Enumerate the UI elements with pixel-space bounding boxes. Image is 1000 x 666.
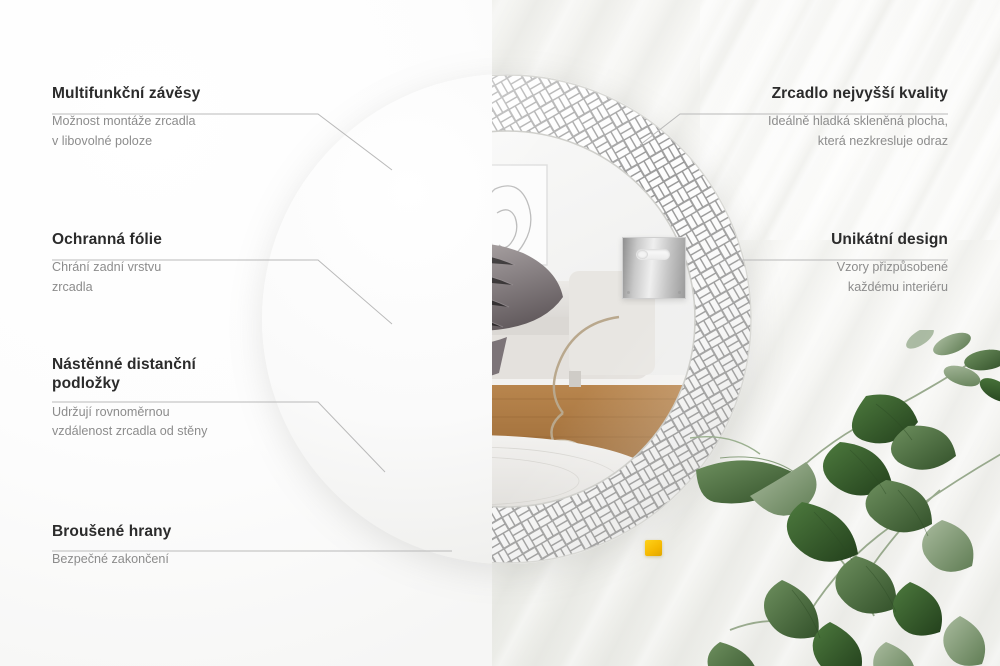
callout-nastenne-distancni-podlozky: Nástěnné distanční podložky Udržují rovn… — [52, 355, 207, 442]
callout-description: Bezpečné zakončení — [52, 550, 171, 570]
callout-description: Udržují rovnoměrnou vzdálenost zrcadla o… — [52, 403, 207, 442]
callout-ochranna-folie: Ochranná fólie Chrání zadní vrstvu zrcad… — [52, 230, 162, 297]
callout-zrcadlo-nejvyssi-kvality: Zrcadlo nejvyšší kvality Ideálně hladká … — [548, 84, 948, 151]
callout-title: Multifunkční závěsy — [52, 84, 200, 103]
callout-description: Možnost montáže zrcadla v libovolné polo… — [52, 112, 200, 151]
callout-description: Ideálně hladká skleněná plocha, která ne… — [548, 112, 948, 151]
product-infographic: Multifunkční závěsy Možnost montáže zrca… — [0, 0, 1000, 666]
wall-spacer-pad — [645, 540, 662, 556]
callout-title: Unikátní design — [608, 230, 948, 249]
callout-title: Zrcadlo nejvyšší kvality — [548, 84, 948, 103]
callout-title: Nástěnné distanční podložky — [52, 355, 207, 394]
callout-title: Ochranná fólie — [52, 230, 162, 249]
callout-unikatni-design: Unikátní design Vzory přizpůsobené každé… — [608, 230, 948, 297]
callout-title: Broušené hrany — [52, 522, 171, 541]
callout-multifunkcni-zavesy: Multifunkční závěsy Možnost montáže zrca… — [52, 84, 200, 151]
callout-brousene-hrany: Broušené hrany Bezpečné zakončení — [52, 522, 171, 570]
callout-description: Vzory přizpůsobené každému interiéru — [608, 258, 948, 297]
callout-description: Chrání zadní vrstvu zrcadla — [52, 258, 162, 297]
